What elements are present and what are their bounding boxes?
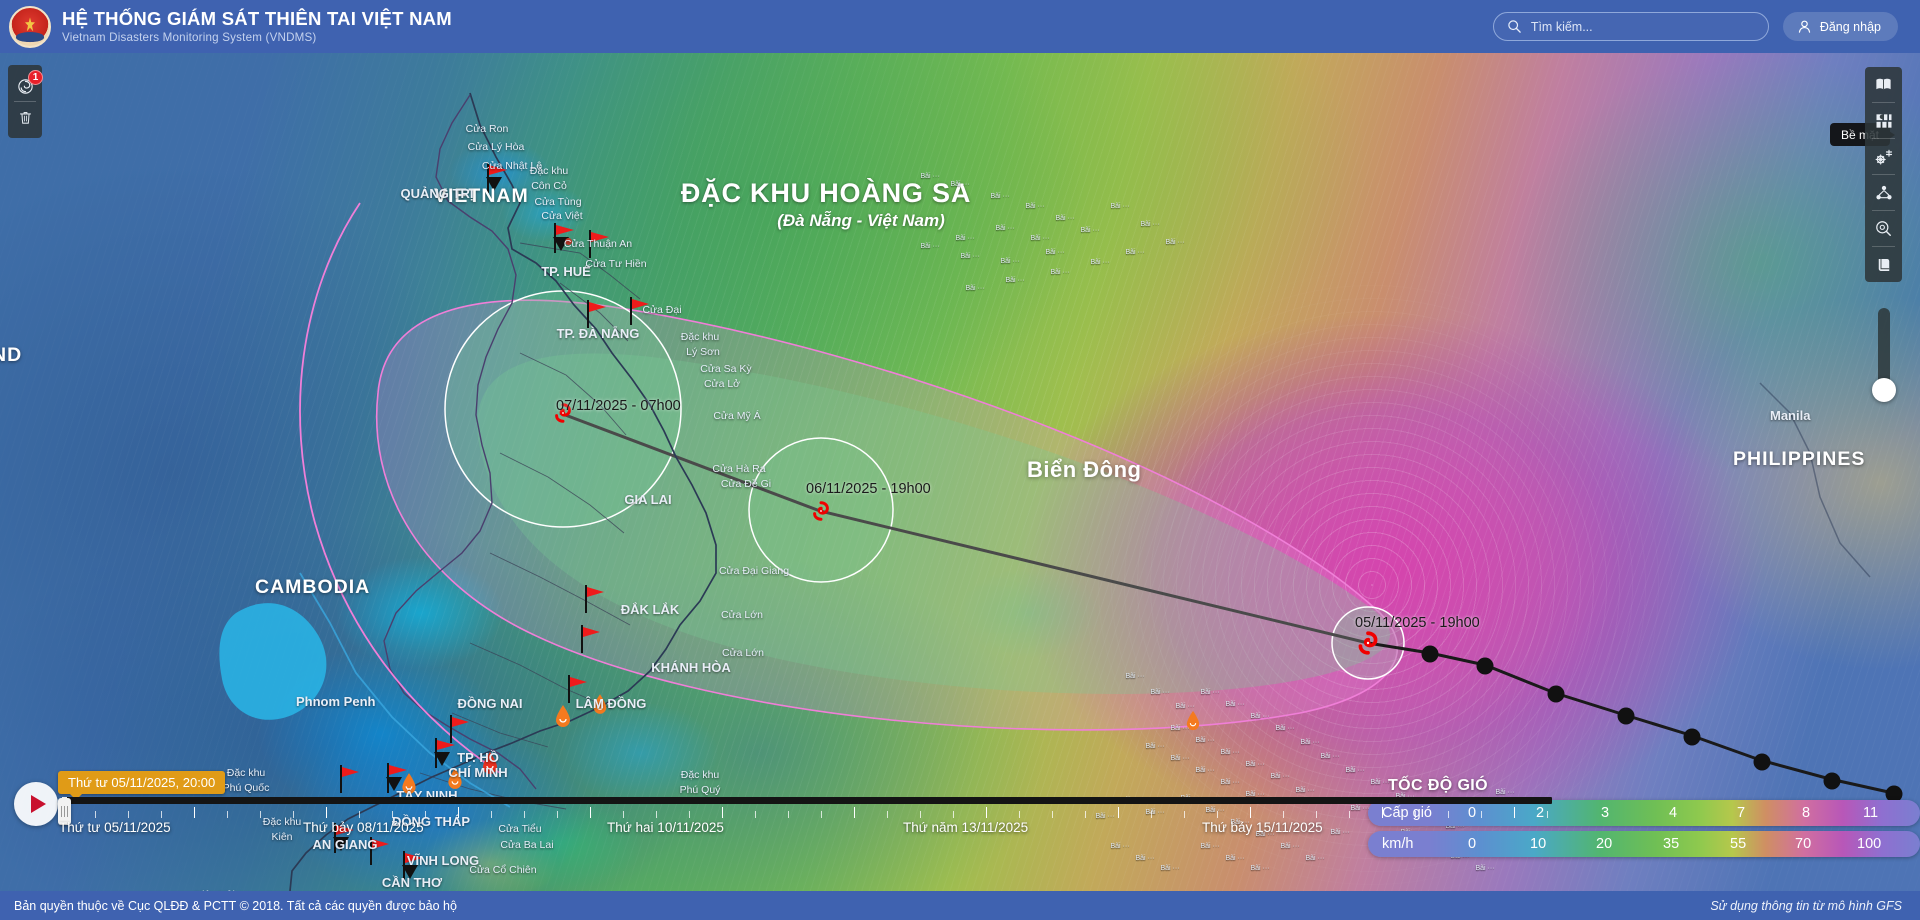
- login-label: Đăng nhập: [1820, 20, 1881, 34]
- timeline-tick: [689, 811, 690, 818]
- timeline-tick: [1514, 807, 1515, 818]
- search-location-icon: [1874, 219, 1893, 238]
- timeline-tick: [953, 811, 954, 818]
- storm-count-badge: 1: [28, 70, 43, 85]
- rain-drop-marker-icon[interactable]: [1185, 710, 1201, 731]
- warning-flag-icon[interactable]: [628, 297, 652, 325]
- timeline-tick: [656, 811, 657, 818]
- timeline-tick: [1448, 811, 1449, 818]
- wind-beaufort-3: 3: [1601, 805, 1609, 821]
- timeline-tick: [920, 811, 921, 818]
- trash-icon: [17, 109, 34, 126]
- timeline-tick: [458, 807, 459, 818]
- map-book-icon: [1874, 75, 1893, 94]
- search-location-button[interactable]: [1865, 211, 1902, 246]
- warning-flag-icon[interactable]: [579, 625, 603, 653]
- timeline-tick: [1481, 811, 1482, 818]
- philippines-coastline: [1760, 383, 1870, 577]
- timeline-tick: [1052, 811, 1053, 818]
- timeline-tick: [854, 807, 855, 818]
- timeline-tick: [227, 811, 228, 818]
- timeline-tick: [1547, 811, 1548, 818]
- copyright-text: Bản quyền thuộc về Cục QLĐĐ & PCTT © 201…: [0, 899, 457, 913]
- timeline[interactable]: Thứ tư 05/11/2025, 20:00 Thứ tư 05/11/20…: [0, 742, 1560, 862]
- timeline-tick: [755, 811, 756, 818]
- app-footer: Bản quyền thuộc về Cục QLĐĐ & PCTT © 201…: [0, 891, 1920, 920]
- timeline-tick: [491, 811, 492, 818]
- play-icon: [31, 795, 46, 813]
- warning-flag-double-icon[interactable]: [485, 163, 511, 193]
- page-subtitle: Vietnam Disasters Monitoring System (VND…: [62, 31, 452, 44]
- cyclone-marker-05-11[interactable]: [1355, 630, 1381, 656]
- timeline-date-label: Thứ hai 10/11/2025: [607, 820, 724, 835]
- timeline-tick: [590, 807, 591, 818]
- timeline-date-label: Thứ năm 13/11/2025: [903, 820, 1028, 835]
- track-history-point[interactable]: [1477, 658, 1494, 675]
- warning-flag-icon[interactable]: [587, 230, 613, 258]
- timeline-tick: [1316, 811, 1317, 818]
- cyclone-marker-06-11[interactable]: [810, 500, 832, 522]
- search-placeholder: Tìm kiếm...: [1531, 20, 1593, 34]
- vndms-app: HỆ THỐNG GIÁM SÁT THIÊN TAI VIỆT NAM Vie…: [0, 0, 1920, 920]
- timeline-tick: [986, 807, 987, 818]
- right-toolbar[interactable]: [1865, 67, 1902, 282]
- timeline-tick: [128, 811, 129, 818]
- layers-button[interactable]: [1865, 103, 1902, 138]
- storm-layer-button[interactable]: 1: [8, 71, 42, 101]
- wind-kmh-20: 20: [1596, 836, 1612, 852]
- timeline-tick: [524, 811, 525, 818]
- warning-flag-icon[interactable]: [583, 585, 607, 613]
- timeline-tick: [557, 811, 558, 818]
- timeline-tick: [623, 811, 624, 818]
- timeline-tick: [1019, 811, 1020, 818]
- timeline-tick: [161, 811, 162, 818]
- track-history-point[interactable]: [1422, 646, 1439, 663]
- timeline-tick: [788, 811, 789, 818]
- rain-drop-marker-icon[interactable]: [592, 693, 608, 715]
- legend-book-button[interactable]: [1865, 247, 1902, 282]
- timeline-current-tooltip: Thứ tư 05/11/2025, 20:00: [58, 771, 225, 794]
- timeline-tick: [1118, 807, 1119, 818]
- timeline-date-label: Thứ tư 05/11/2025: [59, 820, 171, 835]
- timeline-tick: [260, 811, 261, 818]
- timeline-tick: [1283, 811, 1284, 818]
- wind-kmh-35: 35: [1663, 836, 1679, 852]
- tonle-sap-lake: [219, 603, 326, 720]
- weather-settings-icon: [1874, 147, 1894, 167]
- timeline-tick: [1151, 811, 1152, 818]
- track-history-point[interactable]: [1754, 754, 1771, 771]
- app-header: HỆ THỐNG GIÁM SÁT THIÊN TAI VIỆT NAM Vie…: [0, 0, 1920, 53]
- track-label-07-11: 07/11/2025 - 07h00: [556, 398, 681, 414]
- timeline-tick: [1250, 807, 1251, 818]
- user-icon: [1797, 19, 1812, 34]
- left-toolbar[interactable]: 1: [8, 65, 42, 138]
- timeline-date-label: Thứ bảy 15/11/2025: [1202, 820, 1323, 835]
- wind-beaufort-11: 11: [1863, 805, 1878, 821]
- timeline-date-label: Thứ bảy 08/11/2025: [303, 820, 424, 835]
- altitude-slider[interactable]: [1875, 308, 1893, 406]
- timeline-tick: [887, 811, 888, 818]
- timeline-ticks: [62, 808, 1552, 818]
- share-network-icon: [1874, 183, 1894, 203]
- warning-flag-double-icon[interactable]: [552, 223, 578, 253]
- share-network-button[interactable]: [1865, 175, 1902, 210]
- timeline-tick: [392, 811, 393, 818]
- map-viewport[interactable]: 07/11/2025 - 07h00 06/11/2025 - 19h00 05…: [0, 53, 1920, 891]
- layers-icon: [1874, 111, 1894, 131]
- legend-book-icon: [1875, 256, 1893, 274]
- track-label-06-11: 06/11/2025 - 19h00: [806, 481, 931, 497]
- timeline-tick: [722, 807, 723, 818]
- search-icon: [1507, 19, 1522, 34]
- wind-beaufort-4: 4: [1669, 805, 1677, 821]
- track-history-point[interactable]: [1548, 686, 1565, 703]
- track-label-05-11: 05/11/2025 - 19h00: [1355, 615, 1480, 631]
- track-history-point[interactable]: [1684, 729, 1701, 746]
- data-source-text: Sử dụng thông tin từ mô hình GFS: [1710, 899, 1920, 913]
- timeline-tick: [1085, 811, 1086, 818]
- wind-beaufort-8: 8: [1802, 805, 1810, 821]
- timeline-tick: [1382, 807, 1383, 818]
- timeline-track[interactable]: [62, 797, 1552, 804]
- timeline-date-labels: Thứ tư 05/11/2025Thứ bảy 08/11/2025Thứ h…: [0, 820, 1560, 840]
- wind-kmh-55: 55: [1730, 836, 1746, 852]
- warning-flag-icon[interactable]: [585, 300, 609, 328]
- timeline-tick: [326, 807, 327, 818]
- search-input[interactable]: Tìm kiếm...: [1493, 12, 1769, 41]
- warning-flag-icon[interactable]: [566, 675, 590, 703]
- map-book-button[interactable]: [1865, 67, 1902, 102]
- timeline-tick: [821, 811, 822, 818]
- login-button[interactable]: Đăng nhập: [1783, 12, 1898, 41]
- timeline-tick: [194, 807, 195, 818]
- timeline-tick: [1415, 811, 1416, 818]
- page-title: HỆ THỐNG GIÁM SÁT THIÊN TAI VIỆT NAM: [62, 9, 452, 30]
- timeline-tick: [425, 811, 426, 818]
- timeline-tick: [359, 811, 360, 818]
- clear-layers-button[interactable]: [8, 102, 42, 132]
- timeline-tick: [1184, 811, 1185, 818]
- timeline-tick: [1349, 811, 1350, 818]
- wind-beaufort-7: 7: [1737, 805, 1745, 821]
- track-history-point[interactable]: [1618, 708, 1635, 725]
- timeline-tick: [95, 811, 96, 818]
- national-emblem-icon: [9, 6, 51, 48]
- timeline-tick: [293, 811, 294, 818]
- wind-kmh-100: 100: [1857, 836, 1881, 852]
- altitude-slider-knob[interactable]: [1872, 378, 1896, 402]
- brand: HỆ THỐNG GIÁM SÁT THIÊN TAI VIỆT NAM Vie…: [0, 6, 452, 48]
- wind-kmh-70: 70: [1795, 836, 1811, 852]
- timeline-tick: [1217, 811, 1218, 818]
- weather-settings-button[interactable]: [1865, 139, 1902, 174]
- station-dot[interactable]: [565, 238, 572, 245]
- rain-drop-marker-icon[interactable]: [554, 704, 572, 728]
